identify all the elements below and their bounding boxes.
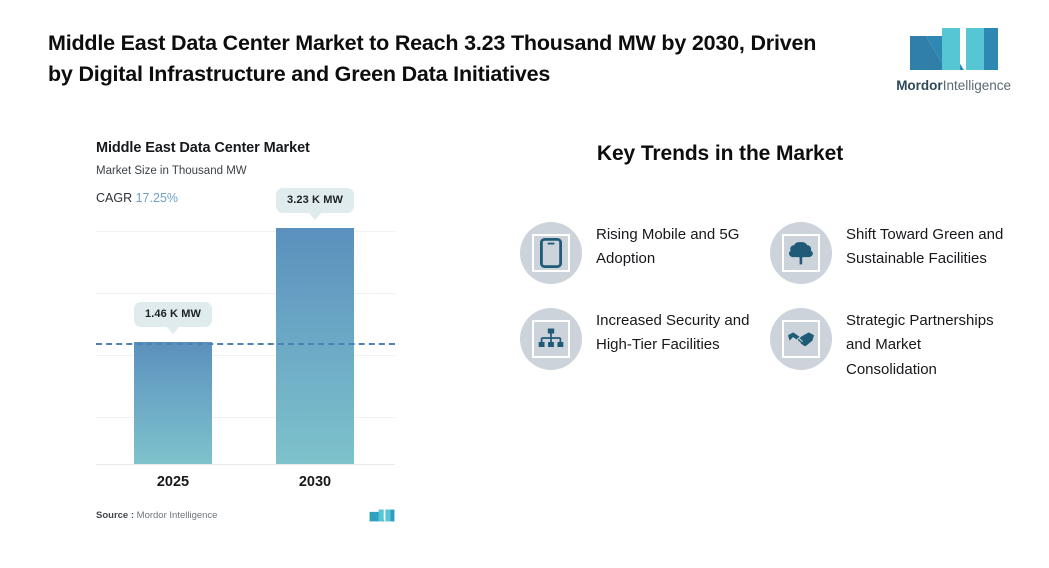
icon-frame: [532, 320, 570, 358]
trend-icon-circle: [770, 308, 832, 370]
trend-icon-circle: [770, 222, 832, 284]
x-tick-2030: 2030: [276, 474, 354, 490]
key-trends-section: Key Trends in the Market Rising Mobile a…: [520, 142, 1020, 382]
infographic-page: Middle East Data Center Market to Reach …: [0, 0, 1049, 568]
smartphone-icon: [540, 238, 562, 268]
trend-icon-circle: [520, 222, 582, 284]
brand-logo: MordorIntelligence: [896, 26, 1011, 93]
source-text: Source : Mordor Intelligence: [96, 510, 217, 521]
network-hierarchy-icon: [538, 327, 564, 351]
mordor-m-logo-icon: [908, 26, 1000, 72]
source-prefix: Source :: [96, 510, 134, 521]
bar-2025: [134, 342, 212, 464]
brand-name-bold: Mordor: [896, 78, 943, 93]
trend-item-partnerships: Strategic Partnerships and Market Consol…: [770, 308, 1020, 382]
trend-item-green-sustainable: Shift Toward Green and Sustainable Facil…: [770, 222, 1020, 284]
value-callout-2025: 1.46 K MW: [134, 302, 212, 327]
brand-name-light: Intelligence: [943, 78, 1011, 93]
key-trends-title: Key Trends in the Market: [542, 142, 898, 166]
trend-icon-circle: [520, 308, 582, 370]
trend-item-security-high-tier: Increased Security and High-Tier Facilit…: [520, 308, 770, 382]
value-callout-2030: 3.23 K MW: [276, 188, 354, 213]
chart-title: Middle East Data Center Market: [96, 140, 401, 156]
x-tick-2025: 2025: [134, 474, 212, 490]
trend-label: Strategic Partnerships and Market Consol…: [846, 308, 1016, 382]
bar-2030: [276, 228, 354, 464]
source-row: Source : Mordor Intelligence: [96, 508, 395, 523]
chart-card: Middle East Data Center Market Market Si…: [96, 140, 401, 540]
chart-baseline: [96, 464, 395, 465]
key-trends-grid: Rising Mobile and 5G Adoption Shift Towa…: [520, 222, 1020, 382]
icon-frame: [782, 234, 820, 272]
chart-cagr: CAGR 17.25%: [96, 191, 401, 205]
trend-label: Shift Toward Green and Sustainable Facil…: [846, 222, 1016, 272]
tree-icon: [788, 240, 814, 266]
brand-name: MordorIntelligence: [896, 78, 1011, 93]
chart-subtitle: Market Size in Thousand MW: [96, 165, 401, 177]
source-name: Mordor Intelligence: [137, 510, 218, 521]
chart-plot-area: 1.46 K MW 3.23 K MW: [96, 213, 395, 465]
page-title: Middle East Data Center Market to Reach …: [48, 28, 838, 90]
header: Middle East Data Center Market to Reach …: [0, 0, 1049, 118]
trend-label: Rising Mobile and 5G Adoption: [596, 222, 766, 272]
cagr-value: 17.25%: [136, 191, 178, 205]
chart-x-axis: 2025 2030: [96, 474, 395, 498]
reference-dashed-line: [96, 343, 395, 345]
handshake-icon: [787, 329, 815, 349]
trend-item-mobile-5g: Rising Mobile and 5G Adoption: [520, 222, 770, 284]
trend-label: Increased Security and High-Tier Facilit…: [596, 308, 766, 358]
cagr-label: CAGR: [96, 191, 132, 205]
mordor-m-mark-icon: [369, 508, 395, 523]
icon-frame: [782, 320, 820, 358]
icon-frame: [532, 234, 570, 272]
